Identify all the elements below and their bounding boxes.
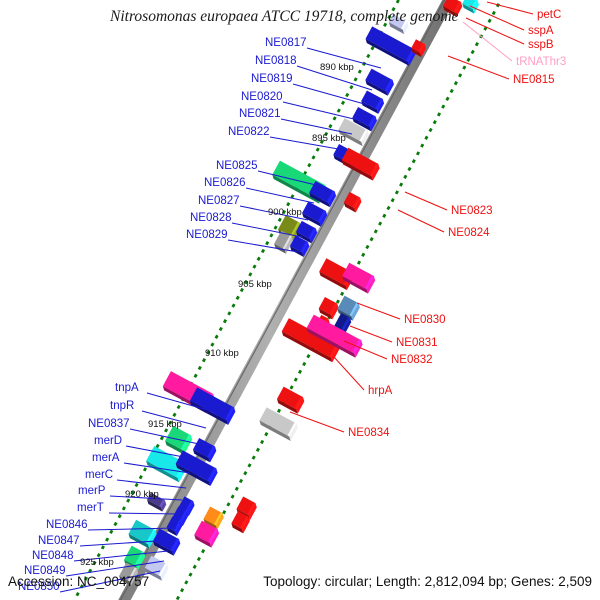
- scale-tick-mark: [294, 377, 298, 381]
- scale-tick-mark: [395, 190, 399, 194]
- gene-label[interactable]: NE0820: [241, 91, 283, 103]
- scale-tick-mark: [337, 108, 341, 112]
- scale-tick-mark: [277, 409, 281, 413]
- scale-tick-mark: [462, 65, 466, 69]
- scale-tick-mark: [345, 93, 349, 97]
- scale-tick-label: 900 kbp: [268, 207, 302, 218]
- scale-tick-mark: [256, 448, 260, 452]
- scale-tick-mark: [403, 175, 407, 179]
- gene-label[interactable]: sspB: [528, 39, 554, 51]
- scale-tick-mark: [336, 299, 340, 303]
- scale-tick-mark: [365, 245, 369, 249]
- label-leader-line: [293, 84, 368, 105]
- scale-tick-labels: 890 kbp895 kbp900 kbp905 kbp910 kbp915 k…: [80, 62, 354, 568]
- scale-tick-mark: [118, 514, 122, 518]
- gene-label[interactable]: merD: [94, 435, 122, 447]
- gene-label[interactable]: NE0830: [404, 314, 446, 326]
- scale-tick-mark: [243, 471, 247, 475]
- scale-tick-mark: [252, 264, 256, 268]
- gene-label[interactable]: hrpA: [368, 385, 393, 397]
- label-leader-lines-left: [60, 48, 381, 592]
- scale-tick-mark: [139, 475, 143, 479]
- scale-tick-mark: [194, 374, 198, 378]
- scale-tick-mark: [269, 233, 273, 237]
- gene-label[interactable]: NE0834: [348, 427, 390, 439]
- scale-tick-mark: [219, 327, 223, 331]
- gene-label[interactable]: NE0825: [216, 160, 258, 172]
- scale-tick-mark: [358, 69, 362, 73]
- scale-tick-mark: [278, 218, 282, 222]
- scale-tick-mark: [227, 311, 231, 315]
- scale-tick-mark: [354, 77, 358, 81]
- scale-tick-mark: [236, 296, 240, 300]
- scale-tick-mark: [122, 506, 126, 510]
- gene-label[interactable]: NE0819: [251, 73, 293, 85]
- scale-tick-label: 920 kbp: [125, 489, 159, 500]
- gene-label[interactable]: NE0832: [391, 354, 433, 366]
- scale-tick-mark: [378, 221, 382, 225]
- scale-tick-mark: [223, 319, 227, 323]
- gene-feature[interactable]: [164, 426, 194, 455]
- genome-map-canvas[interactable]: Nitrosomonas europaea ATCC 19718, comple…: [0, 0, 600, 600]
- label-leader-line: [448, 56, 509, 79]
- label-leader-line: [357, 303, 400, 319]
- scale-tick-mark: [357, 260, 361, 264]
- scale-tick-mark: [180, 588, 184, 592]
- scale-tick-mark: [475, 42, 479, 46]
- scale-tick-mark: [429, 128, 433, 132]
- gene-label[interactable]: NE0846: [46, 519, 88, 531]
- gene-label[interactable]: merP: [78, 485, 106, 497]
- scale-tick-mark: [307, 163, 311, 167]
- scale-tick-mark: [172, 413, 176, 417]
- scale-tick-mark: [454, 81, 458, 85]
- scale-tick-mark: [433, 120, 437, 124]
- gene-label[interactable]: tRNAThr3: [516, 56, 566, 68]
- gene-label[interactable]: NE0822: [228, 126, 270, 138]
- scale-tick-mark: [188, 572, 192, 576]
- scale-tick-mark: [341, 101, 345, 105]
- scale-tick-mark: [366, 54, 370, 58]
- gene-label[interactable]: NE0821: [239, 108, 281, 120]
- gene-label[interactable]: NE0848: [32, 550, 74, 562]
- scale-tick-mark: [420, 143, 424, 147]
- scale-tick-mark: [257, 257, 261, 261]
- scale-tick-mark: [306, 354, 310, 358]
- scale-tick-mark: [143, 467, 147, 471]
- scale-tick-mark: [109, 530, 113, 534]
- genome-backbone[interactable]: [114, 0, 455, 600]
- genome-map-viewer: Nitrosomonas europaea ATCC 19718, comple…: [0, 0, 600, 600]
- scale-tick-mark: [412, 159, 416, 163]
- genome-stats-label: Topology: circular; Length: 2,812,094 bp…: [263, 574, 592, 589]
- scale-tick-mark: [197, 557, 201, 561]
- scale-tick-mark: [302, 362, 306, 366]
- scale-tick-mark: [248, 272, 252, 276]
- label-leader-line: [334, 357, 364, 390]
- scale-tick-mark: [386, 206, 390, 210]
- scale-tick-mark: [407, 167, 411, 171]
- scale-tick-mark: [176, 596, 180, 600]
- scale-tick-mark: [399, 182, 403, 186]
- scale-tick-mark: [328, 124, 332, 128]
- gene-label[interactable]: merA: [92, 452, 120, 464]
- gene-label[interactable]: petC: [537, 9, 561, 21]
- scale-tick-mark: [76, 592, 80, 596]
- scale-tick-mark: [247, 463, 251, 467]
- gene-label[interactable]: NE0828: [190, 212, 232, 224]
- scale-tick-label: 895 kbp: [312, 133, 346, 144]
- scale-tick-mark: [210, 342, 214, 346]
- scale-tick-mark: [391, 198, 395, 202]
- scale-tick-mark: [333, 116, 337, 120]
- scale-tick-mark: [437, 112, 441, 116]
- scale-tick-mark: [264, 432, 268, 436]
- label-leader-line: [117, 480, 186, 488]
- label-leader-line: [290, 412, 344, 432]
- scale-tick-mark: [239, 479, 243, 483]
- gene-label[interactable]: NE0837: [88, 418, 130, 430]
- gene-label[interactable]: NE0823: [451, 205, 493, 217]
- gene-label[interactable]: NE0831: [396, 337, 438, 349]
- gene-label[interactable]: NE0847: [38, 535, 80, 547]
- scale-tick-mark: [374, 229, 378, 233]
- gene-label[interactable]: tnpA: [115, 382, 139, 394]
- gene-label[interactable]: NE0817: [265, 37, 307, 49]
- scale-tick-mark: [135, 483, 139, 487]
- label-leader-line: [405, 192, 447, 210]
- scale-tick-mark: [488, 19, 492, 23]
- gene-label[interactable]: tnpR: [110, 400, 134, 412]
- gene-label[interactable]: NE0824: [448, 227, 490, 239]
- scale-tick-label: 905 kbp: [238, 279, 272, 290]
- scale-tick-mark: [441, 104, 445, 108]
- gene-label[interactable]: NE0827: [198, 195, 240, 207]
- gene-features-reverse-strand[interactable]: [193, 0, 481, 548]
- scale-tick-mark: [311, 155, 315, 159]
- scale-tick-mark: [177, 405, 181, 409]
- scale-tick-mark: [261, 249, 265, 253]
- scale-tick-mark: [424, 136, 428, 140]
- scale-tick-mark: [274, 225, 278, 229]
- gene-label[interactable]: NE0829: [186, 229, 228, 241]
- scale-tick-label: 890 kbp: [320, 62, 354, 73]
- scale-tick-mark: [466, 58, 470, 62]
- scale-tick-mark: [222, 510, 226, 514]
- scale-tick-mark: [184, 580, 188, 584]
- scale-tick-mark: [396, 0, 400, 4]
- gene-label[interactable]: NE0815: [513, 74, 555, 86]
- scale-tick-mark: [445, 97, 449, 101]
- scale-tick-mark: [231, 494, 235, 498]
- scale-tick-mark: [193, 565, 197, 569]
- gene-feature[interactable]: [317, 297, 340, 319]
- scale-tick-mark: [458, 73, 462, 77]
- scale-tick-mark: [113, 522, 117, 526]
- scale-tick-mark: [290, 385, 294, 389]
- scale-tick-mark: [492, 11, 496, 15]
- gene-label[interactable]: merT: [77, 502, 104, 514]
- label-leader-line: [283, 102, 358, 120]
- scale-tick-mark: [252, 455, 256, 459]
- scale-tick-mark: [201, 549, 205, 553]
- scale-tick-mark: [105, 537, 109, 541]
- gene-label[interactable]: merC: [85, 469, 113, 481]
- scale-tick-mark: [361, 253, 365, 257]
- accession-label: Accession: NC_004757: [8, 574, 149, 589]
- scale-tick-mark: [340, 292, 344, 296]
- page-title: Nitrosomonas europaea ATCC 19718, comple…: [109, 8, 459, 25]
- scale-tick-mark: [226, 502, 230, 506]
- scale-tick-mark: [215, 335, 219, 339]
- scale-tick-mark: [231, 303, 235, 307]
- scale-tick-mark: [298, 370, 302, 374]
- scale-tick-mark: [471, 50, 475, 54]
- scale-tick-label: 910 kbp: [205, 348, 239, 359]
- scale-tick-mark: [316, 147, 320, 151]
- gene-label[interactable]: sspA: [528, 25, 554, 37]
- scale-tick-mark: [370, 237, 374, 241]
- label-leader-line: [398, 210, 444, 232]
- scale-tick-label: 915 kbp: [148, 419, 182, 430]
- scale-tick-mark: [349, 85, 353, 89]
- gene-label[interactable]: NE0818: [255, 55, 297, 67]
- scale-tick-mark: [450, 89, 454, 93]
- scale-tick-mark: [260, 440, 264, 444]
- gene-label[interactable]: NE0826: [204, 177, 246, 189]
- scale-tick-mark: [286, 202, 290, 206]
- scale-tick-mark: [101, 545, 105, 549]
- scale-tick-mark: [416, 151, 420, 155]
- scale-tick-mark: [198, 366, 202, 370]
- scale-tick-mark: [265, 241, 269, 245]
- scale-tick-mark: [382, 214, 386, 218]
- scale-tick-mark: [235, 487, 239, 491]
- scale-tick-label: 925 kbp: [80, 557, 114, 568]
